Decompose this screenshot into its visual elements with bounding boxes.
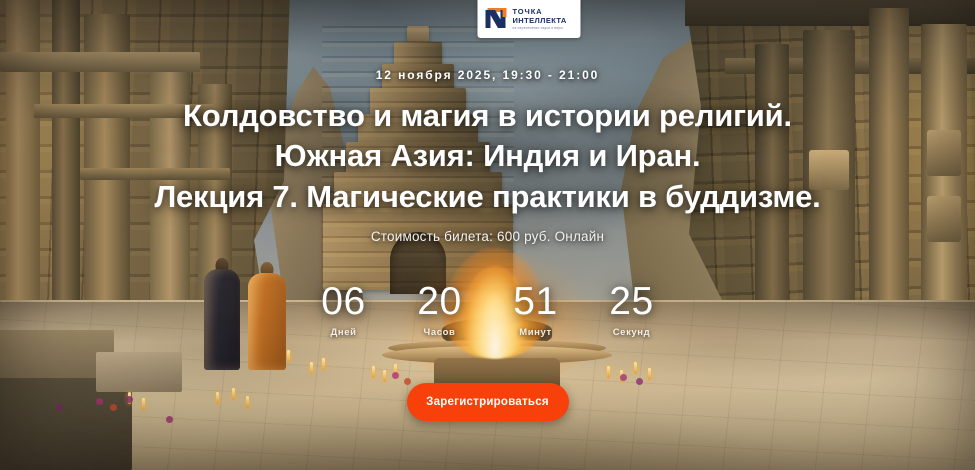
- countdown-unit-seconds: 25 Секунд: [584, 282, 680, 338]
- brand-wordmark: ТОЧКА ИНТЕЛЛЕКТА на пересечении науки и …: [513, 8, 567, 30]
- countdown-label-minutes: Минут: [488, 327, 584, 338]
- countdown-unit-minutes: 51 Минут: [488, 282, 584, 338]
- brand-name-line2: ИНТЕЛЛЕКТА: [513, 17, 567, 25]
- hero-banner: ТОЧКА ИНТЕЛЛЕКТА на пересечении науки и …: [0, 0, 975, 470]
- brand-name-line1: ТОЧКА: [513, 8, 567, 16]
- countdown-timer: 06 Дней 20 Часов 51 Минут 25 Секунд: [0, 282, 975, 338]
- hero-content-overlay: ТОЧКА ИНТЕЛЛЕКТА на пересечении науки и …: [0, 0, 975, 470]
- cta-container: Зарегистрироваться: [0, 383, 975, 421]
- title-line-1: Колдовство и магия в истории религий.: [0, 96, 975, 136]
- title-line-3: Лекция 7. Магические практики в буддизме…: [0, 177, 975, 217]
- brand-logo[interactable]: ТОЧКА ИНТЕЛЛЕКТА на пересечении науки и …: [478, 0, 581, 38]
- countdown-unit-hours: 20 Часов: [392, 282, 488, 338]
- ticket-price: Стоимость билета: 600 руб. Онлайн: [0, 229, 975, 244]
- it-monogram-icon: [486, 8, 508, 30]
- register-button[interactable]: Зарегистрироваться: [407, 383, 569, 421]
- countdown-label-hours: Часов: [392, 327, 488, 338]
- page-title: Колдовство и магия в истории религий. Юж…: [0, 96, 975, 217]
- countdown-label-seconds: Секунд: [584, 327, 680, 338]
- event-date: 12 ноября 2025, 19:30 - 21:00: [0, 68, 975, 82]
- countdown-label-days: Дней: [296, 327, 392, 338]
- countdown-value-days: 06: [296, 282, 392, 321]
- countdown-value-seconds: 25: [584, 282, 680, 321]
- brand-tagline: на пересечении науки и веры: [513, 27, 567, 30]
- title-line-2: Южная Азия: Индия и Иран.: [0, 136, 975, 176]
- countdown-value-hours: 20: [392, 282, 488, 321]
- countdown-value-minutes: 51: [488, 282, 584, 321]
- countdown-unit-days: 06 Дней: [296, 282, 392, 338]
